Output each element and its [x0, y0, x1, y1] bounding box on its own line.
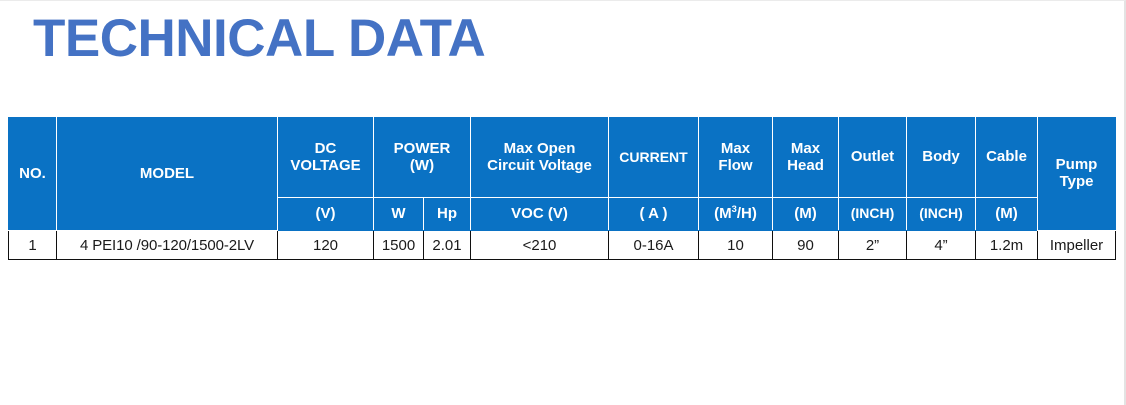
cell-model: 4 PEI10 /90-120/1500-2LV	[57, 231, 278, 260]
header-unit-max-flow-post: /H)	[737, 205, 757, 222]
table-header-row-primary: NO. MODEL DC VOLTAGE POWER (W) Max Open …	[9, 118, 1116, 198]
cell-power-w: 1500	[374, 231, 424, 260]
slide-canvas: TECHNICAL DATA NO. MODEL DC VOLTAGE	[0, 0, 1126, 405]
cell-body: 4”	[907, 231, 976, 260]
header-unit-max-flow: (M3/H)	[699, 198, 773, 231]
header-outlet: Outlet	[839, 118, 907, 198]
header-model: MODEL	[57, 118, 278, 231]
header-pump-type-line1: Pump	[1056, 156, 1098, 173]
header-dc-voltage-line1: DC	[315, 140, 337, 157]
cell-no: 1	[9, 231, 57, 260]
header-voc-line1: Max Open	[504, 140, 576, 157]
header-unit-dc-voltage: (V)	[278, 198, 374, 231]
cell-dc-voltage: 120	[278, 231, 374, 260]
header-unit-current: ( A )	[609, 198, 699, 231]
header-voc-line2: Circuit Voltage	[487, 157, 592, 174]
header-unit-max-head: (M)	[773, 198, 839, 231]
cell-power-hp: 2.01	[424, 231, 471, 260]
technical-data-table: NO. MODEL DC VOLTAGE POWER (W) Max Open …	[8, 117, 1116, 260]
cell-outlet: 2”	[839, 231, 907, 260]
header-max-flow-line2: Flow	[718, 157, 752, 174]
header-unit-outlet: (INCH)	[839, 198, 907, 231]
header-power-line1: POWER	[394, 140, 451, 157]
header-body: Body	[907, 118, 976, 198]
header-max-open-circuit-voltage: Max Open Circuit Voltage	[471, 118, 609, 198]
cell-cable: 1.2m	[976, 231, 1038, 260]
header-max-head: Max Head	[773, 118, 839, 198]
header-max-flow: Max Flow	[699, 118, 773, 198]
cell-current: 0-16A	[609, 231, 699, 260]
header-current: CURRENT	[609, 118, 699, 198]
header-cable: Cable	[976, 118, 1038, 198]
cell-pump-type: Impeller	[1038, 231, 1116, 260]
header-max-flow-line1: Max	[721, 140, 750, 157]
header-dc-voltage: DC VOLTAGE	[278, 118, 374, 198]
header-max-head-line2: Head	[787, 157, 824, 174]
header-no: NO.	[9, 118, 57, 231]
header-power-line2: (W)	[410, 157, 434, 174]
header-unit-power-w: W	[374, 198, 424, 231]
header-pump-type-line2: Type	[1060, 173, 1094, 190]
cell-max-flow: 10	[699, 231, 773, 260]
header-unit-power-hp: Hp	[424, 198, 471, 231]
header-power: POWER (W)	[374, 118, 471, 198]
table-body: 1 4 PEI10 /90-120/1500-2LV 120 1500 2.01…	[9, 231, 1116, 260]
header-dc-voltage-line2: VOLTAGE	[290, 157, 360, 174]
header-unit-max-flow-pre: (M	[714, 205, 732, 222]
cell-voc: <210	[471, 231, 609, 260]
table-row: 1 4 PEI10 /90-120/1500-2LV 120 1500 2.01…	[9, 231, 1116, 260]
page-title: TECHNICAL DATA	[33, 9, 485, 70]
header-unit-cable: (M)	[976, 198, 1038, 231]
cell-max-head: 90	[773, 231, 839, 260]
header-unit-body: (INCH)	[907, 198, 976, 231]
header-pump-type: Pump Type	[1038, 118, 1116, 231]
header-unit-voc: VOC (V)	[471, 198, 609, 231]
header-max-head-line1: Max	[791, 140, 820, 157]
